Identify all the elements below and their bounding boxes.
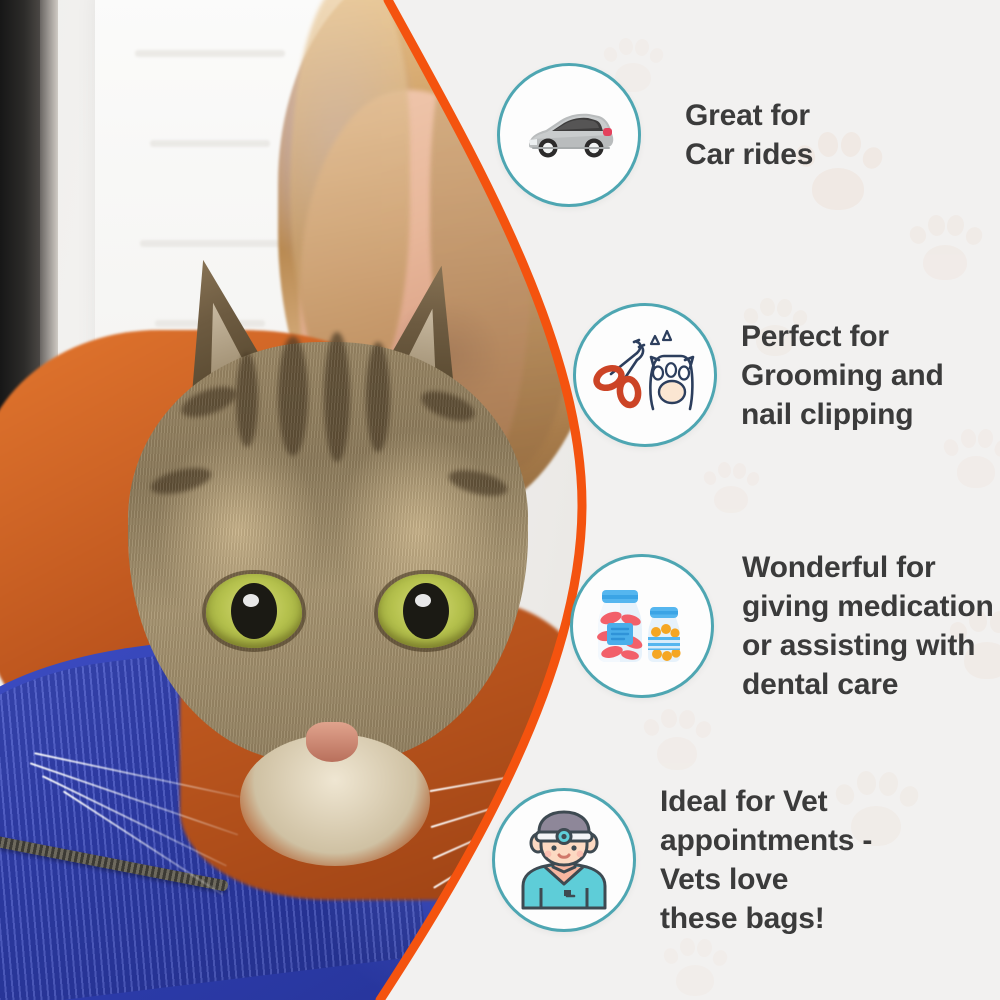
veterinarian-icon-circle	[492, 788, 636, 932]
nail-clipper-paw-icon-circle	[573, 303, 717, 447]
feature-label-car-rides: Great for Car rides	[685, 96, 813, 174]
infographic-canvas: Great for Car rides	[0, 0, 1000, 1000]
nail-clipper-paw-icon	[593, 329, 697, 421]
feature-item-medication[interactable]: Wonderful for giving medication or assis…	[570, 548, 994, 704]
feature-item-vet[interactable]: Ideal for Vet appointments - Vets love t…	[492, 782, 872, 938]
feature-item-car-rides[interactable]: Great for Car rides	[497, 63, 813, 207]
pill-bottles-icon	[590, 580, 694, 672]
car-icon	[519, 104, 619, 166]
feature-list: Great for Car rides	[0, 0, 1000, 1000]
pill-bottles-icon-circle	[570, 554, 714, 698]
veterinarian-icon	[515, 810, 613, 910]
feature-label-grooming: Perfect for Grooming and nail clipping	[741, 317, 944, 434]
car-icon-circle	[497, 63, 641, 207]
feature-label-vet: Ideal for Vet appointments - Vets love t…	[660, 782, 872, 938]
feature-item-grooming[interactable]: Perfect for Grooming and nail clipping	[573, 303, 944, 447]
feature-label-medication: Wonderful for giving medication or assis…	[742, 548, 994, 704]
